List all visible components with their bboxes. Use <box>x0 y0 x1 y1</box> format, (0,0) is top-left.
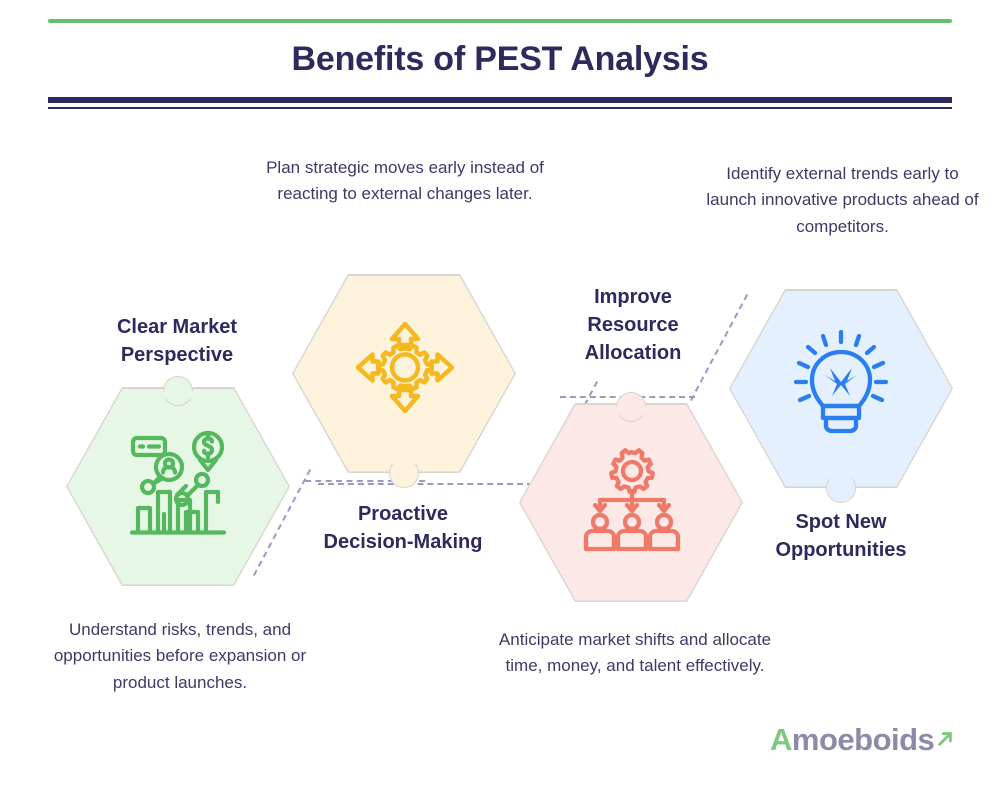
page-title: Benefits of PEST Analysis <box>0 40 1000 79</box>
title-line-2: Perspective <box>52 341 302 369</box>
market-analytics-icon <box>130 430 230 540</box>
title-line-2: Opportunities <box>716 536 966 564</box>
clear-market-perspective-notch-cover <box>162 391 194 399</box>
title-line-1: Spot New <box>716 508 966 536</box>
clear-market-perspective-title: Clear Market Perspective <box>52 313 302 369</box>
title-line-3: Allocation <box>508 339 758 367</box>
spot-new-opportunities-title: Spot New Opportunities <box>716 508 966 564</box>
clear-market-perspective-description: Understand risks, trends, and opportunit… <box>35 617 325 696</box>
infographic-canvas: Benefits of PEST Analysis Clear Market P… <box>0 0 1000 797</box>
header-bottom-rule-thick <box>48 97 952 103</box>
title-line-1: Proactive <box>278 500 528 528</box>
proactive-decision-making-title: Proactive Decision-Making <box>278 500 528 556</box>
proactive-decision-making-description: Plan strategic moves early instead of re… <box>265 155 545 208</box>
title-line-1: Clear Market <box>52 313 302 341</box>
proactive-decision-making-notch-cover <box>388 456 420 464</box>
arrow-up-right-icon <box>936 730 954 748</box>
spot-new-opportunities-description: Identify external trends early to launch… <box>700 161 985 240</box>
header-top-rule <box>48 19 952 23</box>
expand-gear-arrows-icon <box>355 320 455 426</box>
improve-resource-allocation-description: Anticipate market shifts and allocate ti… <box>490 627 780 680</box>
spot-new-opportunities-notch-cover <box>825 471 857 479</box>
improve-resource-allocation-title: Improve Resource Allocation <box>508 283 758 367</box>
title-line-2: Decision-Making <box>278 528 528 556</box>
connector-2-horizontal <box>318 483 533 485</box>
title-line-1: Improve <box>508 283 758 311</box>
improve-resource-allocation-notch-cover <box>615 407 647 415</box>
logo-accent-letter: A <box>770 722 792 758</box>
amoeboids-logo[interactable]: Amoeboids <box>770 722 954 758</box>
logo-text: moeboids <box>792 722 934 758</box>
header-bottom-rule-thin <box>48 107 952 109</box>
title-line-2: Resource <box>508 311 758 339</box>
org-chart-gear-people-icon <box>580 448 682 553</box>
lightbulb-idea-icon <box>790 330 892 442</box>
